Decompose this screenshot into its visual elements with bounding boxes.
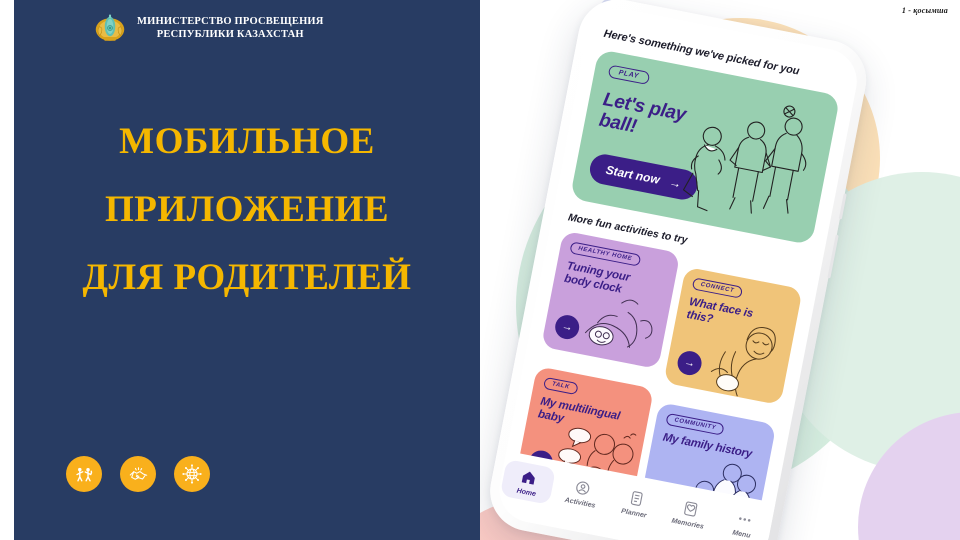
phone-power-button xyxy=(827,235,838,279)
tab-planner[interactable]: Planner xyxy=(608,480,664,526)
menu-dots-icon xyxy=(734,509,755,530)
left-navy-panel: МИНИСТЕРСТВО ПРОСВЕЩЕНИЯ РЕСПУБЛИКИ КАЗА… xyxy=(14,0,480,540)
tab-label-activities: Activities xyxy=(564,497,596,510)
card-arrow-button-healthy-home[interactable]: → xyxy=(553,313,581,341)
tab-label-menu: Menu xyxy=(732,529,751,539)
page-title: МОБИЛЬНОЕ ПРИЛОЖЕНИЕ ДЛЯ РОДИТЕЛЕЙ xyxy=(14,108,480,312)
kazakhstan-coat-of-arms-icon xyxy=(92,10,128,46)
card-tag-connect: CONNECT xyxy=(692,277,743,298)
planner-icon xyxy=(626,488,647,509)
tab-label-memories: Memories xyxy=(671,518,704,531)
phone-body: Here's something we've picked for you PL… xyxy=(483,0,873,540)
tab-label-planner: Planner xyxy=(621,508,648,520)
page-title-line-3: ДЛЯ РОДИТЕЛЕЙ xyxy=(14,244,480,312)
page-title-line-2: ПРИЛОЖЕНИЕ xyxy=(14,176,480,244)
card-tag-talk: TALK xyxy=(543,377,579,395)
phone-mockup: Here's something we've picked for you PL… xyxy=(480,0,900,540)
right-stage: 1 - қосымша Here's something we've picke… xyxy=(480,0,960,540)
ministry-name: МИНИСТЕРСТВО ПРОСВЕЩЕНИЯ РЕСПУБЛИКИ КАЗА… xyxy=(137,15,324,41)
start-now-label: Start now xyxy=(605,163,661,187)
slide-root: МИНИСТЕРСТВО ПРОСВЕЩЕНИЯ РЕСПУБЛИКИ КАЗА… xyxy=(0,0,960,540)
page-title-line-1: МОБИЛЬНОЕ xyxy=(14,108,480,176)
badge-row xyxy=(66,456,210,492)
activity-card-connect[interactable]: CONNECT What face is this? → xyxy=(663,267,802,406)
corner-note: 1 - қосымша xyxy=(902,6,948,15)
tab-memories[interactable]: Memories xyxy=(662,490,718,536)
tab-home[interactable]: Home xyxy=(500,459,556,505)
mother-and-baby-faces-illustration xyxy=(698,311,794,405)
arrow-right-icon: → xyxy=(561,320,574,334)
ministry-line-2: РЕСПУБЛИКИ КАЗАХСТАН xyxy=(157,29,304,40)
hero-tag: PLAY xyxy=(608,64,650,85)
ministry-line-1: МИНИСТЕРСТВО ПРОСВЕЩЕНИЯ xyxy=(137,16,324,27)
badge-children-playing xyxy=(66,456,102,492)
tab-label-home: Home xyxy=(516,488,536,499)
kids-playing-ball-illustration xyxy=(661,78,835,242)
tab-activities[interactable]: Activities xyxy=(554,470,610,516)
phone-volume-button xyxy=(839,193,847,219)
memories-icon xyxy=(680,498,701,519)
badge-globe-network xyxy=(174,456,210,492)
arrow-right-icon: → xyxy=(683,356,696,370)
tab-menu[interactable]: Menu xyxy=(715,501,771,540)
parent-with-baby-illustration xyxy=(575,275,671,369)
badge-handshake xyxy=(120,456,156,492)
phone-screen: Here's something we've picked for you PL… xyxy=(494,3,863,540)
card-arrow-button-connect[interactable]: → xyxy=(675,349,703,377)
ministry-branding: МИНИСТЕРСТВО ПРОСВЕЩЕНИЯ РЕСПУБЛИКИ КАЗА… xyxy=(92,10,324,46)
home-icon xyxy=(519,467,540,488)
activity-card-healthy-home[interactable]: HEALTHY HOME Tuning your body clock → xyxy=(541,231,680,370)
hero-card-play[interactable]: PLAY Let's play ball! Start now → xyxy=(570,49,840,245)
card-tag-community: COMMUNITY xyxy=(665,413,725,436)
activities-icon xyxy=(572,478,593,499)
